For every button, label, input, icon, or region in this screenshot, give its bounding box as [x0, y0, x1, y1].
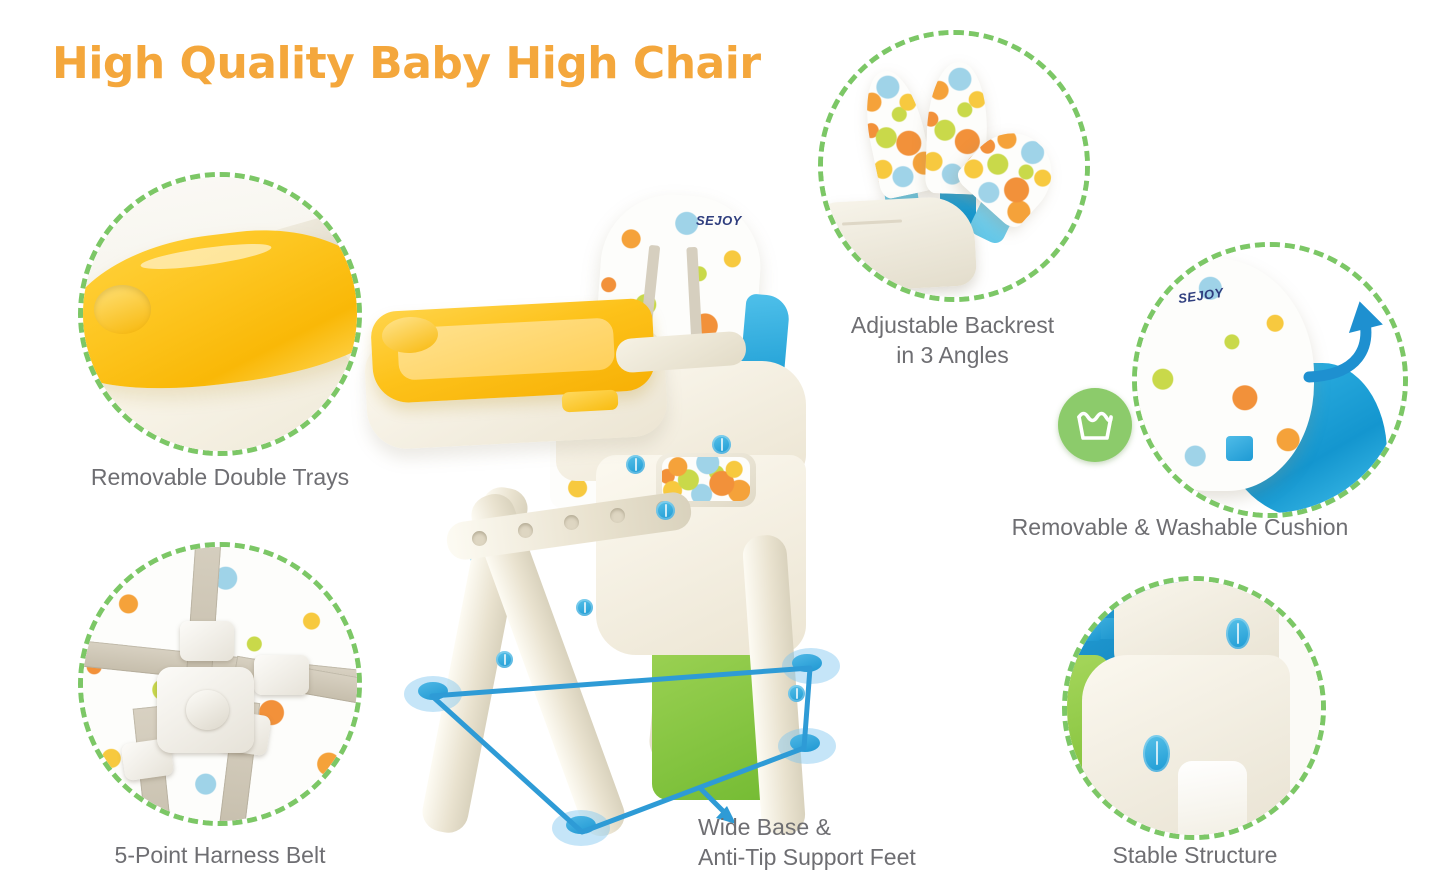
feature-circle-removable-washable-cushion: SEJOY	[1132, 242, 1408, 518]
stable-structure-photo	[1062, 576, 1326, 840]
chair-screw	[788, 685, 805, 702]
infographic-canvas: High Quality Baby High Chair Removable D…	[0, 0, 1445, 894]
feature-circle-stable-structure	[1062, 576, 1326, 840]
page-title: High Quality Baby High Chair	[52, 38, 761, 89]
caption-stable-structure: Stable Structure	[1000, 840, 1390, 870]
brand-label-chair: SEJOY	[696, 213, 742, 228]
caption-removable-double-trays: Removable Double Trays	[30, 462, 410, 492]
brace-hole	[518, 523, 533, 538]
chair-screw	[576, 599, 593, 616]
chair-screw	[712, 435, 731, 454]
washable-basin-icon	[1074, 405, 1116, 445]
support-foot-cap	[418, 682, 448, 700]
chair-screw	[496, 651, 513, 668]
caption-removable-washable-cushion: Removable & Washable Cushion	[985, 512, 1375, 542]
curved-arrow-up-icon	[1287, 291, 1382, 386]
cushion-photo: SEJOY	[1132, 242, 1408, 518]
chair-screw	[656, 501, 675, 520]
harness-photo	[78, 542, 362, 826]
support-foot-cap	[790, 734, 820, 752]
caption-wide-base-anti-tip-support-feet: Wide Base & Anti-Tip Support Feet	[698, 812, 968, 872]
tray-photo	[78, 172, 362, 456]
washable-basin-badge	[1058, 388, 1132, 462]
brace-hole	[472, 531, 487, 546]
feature-circle-removable-double-trays	[78, 172, 362, 456]
brace-hole	[564, 515, 579, 530]
support-foot-cap	[792, 654, 822, 672]
backrest-photo	[818, 30, 1090, 302]
chair-screw	[626, 455, 645, 474]
caption-five-point-harness-belt: 5-Point Harness Belt	[30, 840, 410, 870]
feature-circle-five-point-harness-belt	[78, 542, 362, 826]
feature-circle-adjustable-backrest	[818, 30, 1090, 302]
support-foot-cap	[566, 816, 596, 834]
product-image-high-chair: SEJOY	[360, 185, 840, 875]
caption-adjustable-backrest: Adjustable Backrest in 3 Angles	[800, 310, 1105, 370]
chair-tray-latch	[562, 390, 619, 413]
brace-hole	[610, 508, 625, 523]
